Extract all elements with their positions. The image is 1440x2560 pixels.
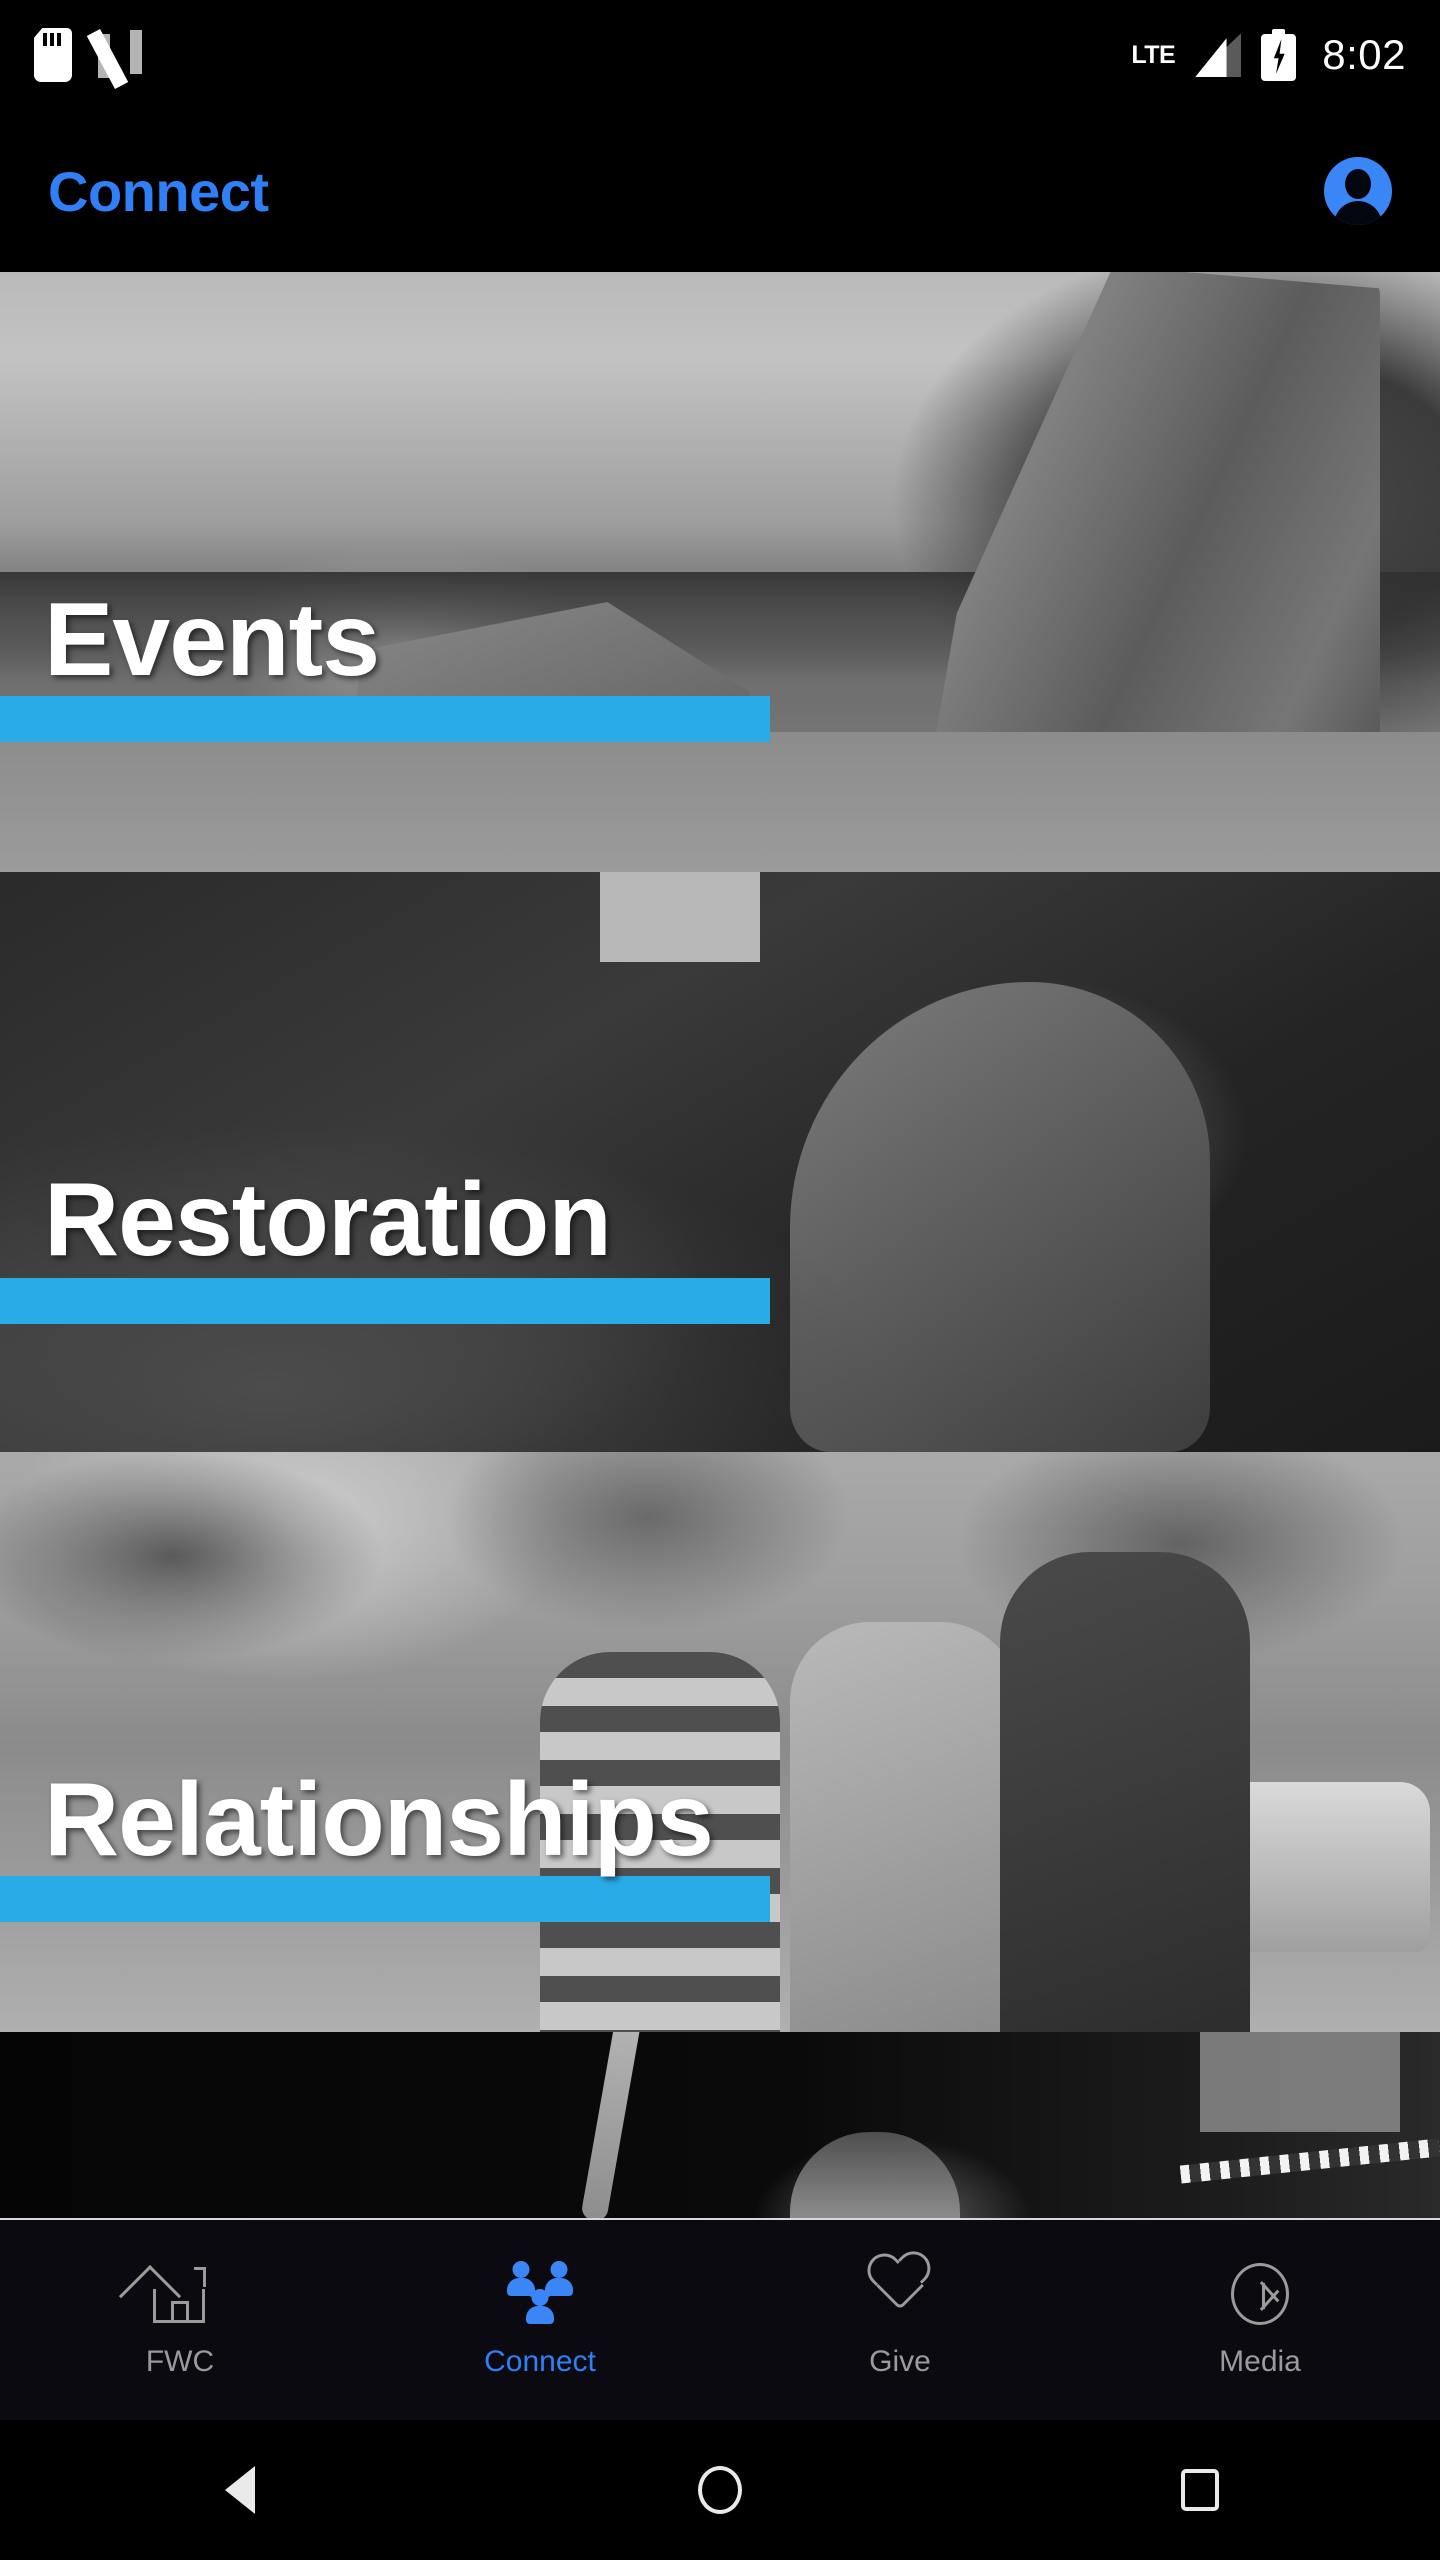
category-card-list[interactable]: Events Restoration Relationships [0,272,1440,2218]
app-bar: Connect [0,110,1440,272]
nav-label-fwc: FWC [146,2345,214,2379]
nav-label-connect: Connect [484,2345,596,2379]
nav-item-connect[interactable]: Connect [360,2261,720,2379]
network-type-label: LTE [1131,41,1175,70]
page-title: Connect [48,159,1324,224]
home-circle-icon[interactable] [480,2466,960,2514]
recents-square-icon[interactable] [960,2469,1440,2511]
nav-label-media: Media [1219,2345,1301,2379]
restoration-card-title: Restoration [44,1168,611,1272]
category-card-partial[interactable] [0,2032,1440,2218]
nav-item-give[interactable]: Give [720,2261,1080,2379]
battery-charging-icon [1261,29,1296,81]
nav-item-fwc[interactable]: FWC [0,2261,360,2379]
system-navigation-bar [0,2420,1440,2560]
events-card-accent-bar [0,696,770,742]
events-card-title: Events [44,588,379,692]
category-card-relationships[interactable]: Relationships [0,1452,1440,2032]
status-bar-clock: 8:02 [1322,31,1406,79]
worship-card-photo [0,2032,1440,2218]
nav-label-give: Give [869,2345,931,2379]
signal-bars-icon [1195,33,1241,77]
home-icon [142,2261,218,2327]
account-avatar-icon[interactable] [1324,157,1392,225]
status-bar-right: LTE 8:02 [1131,29,1406,81]
events-card-photo [0,272,1440,872]
relationships-card-title: Relationships [44,1768,713,1872]
play-circle-icon [1222,2261,1298,2327]
people-group-icon [502,2261,578,2327]
android-nougat-icon [98,30,142,80]
status-bar: LTE 8:02 [0,0,1440,110]
app-screen: LTE 8:02 Connect Events [0,0,1440,2560]
sd-card-icon [34,28,72,82]
status-bar-left [34,28,1131,82]
bottom-navigation-bar: FWC Connect Give Media [0,2218,1440,2420]
nav-item-media[interactable]: Media [1080,2261,1440,2379]
relationships-card-photo [0,1452,1440,2032]
restoration-card-accent-bar [0,1278,770,1324]
category-card-events[interactable]: Events [0,272,1440,872]
back-triangle-icon[interactable] [0,2466,480,2514]
relationships-card-accent-bar [0,1876,770,1922]
category-card-restoration[interactable]: Restoration [0,872,1440,1452]
heart-icon [862,2261,938,2327]
